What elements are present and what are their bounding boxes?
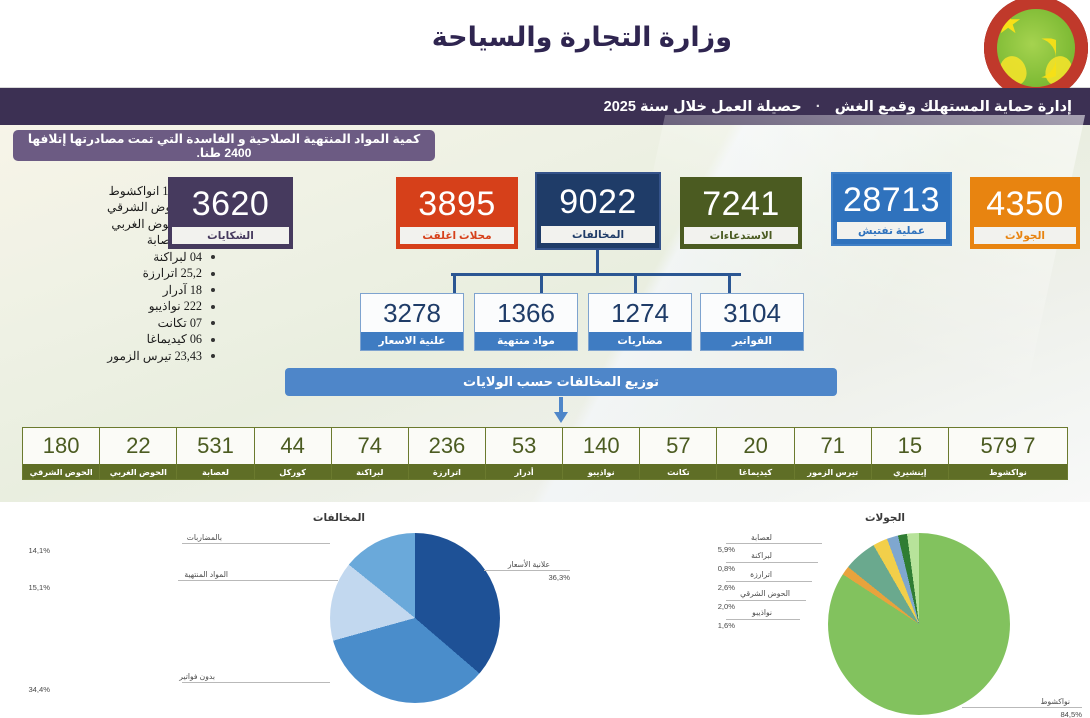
list-item: 18 آدرار (17, 282, 215, 299)
pie-slice-label-nouakchott: نواكشوط (1041, 697, 1070, 706)
pie-slice-pct-brakna: 0,8% (718, 564, 735, 573)
breakdown-value: 1274 (589, 294, 691, 332)
bullet-icon (211, 338, 215, 342)
table-cell-6[interactable]: 53أدرار (485, 428, 562, 479)
pie-slice-label-nouadhibou: نواذيبو (752, 608, 772, 617)
table-cell-label: تيرس الزمور (795, 464, 871, 479)
table-cell-label: كيديماغا (717, 464, 793, 479)
pie-slice-label-brakna: لبراكنة (751, 551, 772, 560)
stat-label: الاستدعاءات (684, 227, 798, 244)
table-cell-label: تكانت (640, 464, 716, 479)
down-arrow-icon (554, 397, 568, 425)
table-cell-value: 236 (409, 428, 485, 464)
pie-slice-label-hodh-charghi: الحوض الشرقي (740, 589, 790, 598)
list-item-label: 23,43 تيرس الزمور (107, 349, 202, 364)
seized-goods-note: كمية المواد المنتهية الصلاحية و الفاسدة … (13, 130, 435, 161)
table-cell-label: أدرار (486, 464, 562, 479)
pie-slice-label-trarza: اترارزة (750, 570, 772, 579)
list-item-label: 25,2 اترارزة (143, 266, 202, 281)
title-banner: إدارة حماية المستهلك وقمع الغش · حصيلة ا… (0, 88, 1090, 125)
stat-card-closed-shops[interactable]: 3895 محلات اغلقت (396, 177, 518, 249)
table-cell-label: نواكشوط (949, 464, 1067, 479)
stat-value: 4350 (974, 181, 1076, 227)
list-item: 23,43 تيرس الزمور (17, 348, 215, 365)
bullet-icon (211, 288, 215, 292)
list-item-label: 06 كيديماغا (147, 332, 202, 347)
table-cell-value: 57 (640, 428, 716, 464)
distribution-bar[interactable]: توزيع المخالفات حسب الولايات (285, 368, 837, 396)
bullet-icon (211, 272, 215, 276)
stat-label: عملية تفتيش (837, 222, 946, 239)
table-cell-12[interactable]: 180الحوض الشرقي (23, 428, 99, 479)
table-cell-value: 7 579 (949, 428, 1067, 464)
breakdown-label: علنية الاسعار (361, 332, 463, 350)
stat-value: 9022 (541, 178, 655, 226)
table-cell-value: 22 (100, 428, 176, 464)
pie-slice-pct-price-display: 36,3% (548, 573, 570, 582)
pie-chart-violations (330, 533, 500, 703)
pie-title-violations: المخالفات (313, 512, 365, 524)
pie-slice-pct-nouadhibou: 1,6% (718, 621, 735, 630)
pie-slice-pct-speculation: 14,1% (28, 546, 50, 555)
bullet-icon (211, 354, 215, 358)
bullet-icon (211, 255, 215, 259)
table-cell-11[interactable]: 22الحوض الغربي (99, 428, 176, 479)
stat-card-tours[interactable]: 4350 الجولات (970, 177, 1080, 249)
table-cell-value: 15 (872, 428, 948, 464)
table-cell-value: 180 (23, 428, 99, 464)
stat-label: المخالفات (541, 226, 655, 243)
pie-slice-label-expired: المواد المنتهية (184, 570, 228, 579)
stat-value: 28713 (837, 178, 946, 222)
table-cell-value: 44 (255, 428, 331, 464)
list-item-label: 18 آدرار (163, 283, 202, 298)
mauritania-national-emblem-icon (984, 0, 1088, 100)
table-cell-label: إينشيري (872, 464, 948, 479)
list-item: 07 تكانت (17, 315, 215, 332)
list-item-label: 07 تكانت (158, 316, 202, 331)
table-cell-label: نواذيبو (563, 464, 639, 479)
pie-slice-label-speculation: بالمضاربات (187, 533, 222, 542)
table-cell-label: لعصابة (177, 464, 253, 479)
table-cell-9[interactable]: 44كوركل (254, 428, 331, 479)
list-item: 06 كيديماغا (17, 332, 215, 349)
list-item: 25,2 اترارزة (17, 266, 215, 283)
list-item-label: 222 نواذيبو (149, 299, 202, 314)
table-cell-value: 20 (717, 428, 793, 464)
breakdown-value: 3278 (361, 294, 463, 332)
table-cell-8[interactable]: 74لبراكنة (331, 428, 408, 479)
table-cell-3[interactable]: 20كيديماغا (716, 428, 793, 479)
bullet-icon (211, 321, 215, 325)
pie-slice-label-no-invoice: بدون فواتير (179, 672, 215, 681)
table-cell-value: 71 (795, 428, 871, 464)
table-cell-label: اترارزة (409, 464, 485, 479)
stat-card-complaints[interactable]: 3620 الشكايات (168, 177, 293, 249)
pie-slice-pct-hodh-charghi: 2,0% (718, 602, 735, 611)
table-cell-value: 53 (486, 428, 562, 464)
pie-slice-pct-nouakchott: 84,5% (1060, 710, 1082, 718)
table-cell-label: الحوض الشرقي (23, 464, 99, 479)
breakdown-value: 3104 (701, 294, 803, 332)
table-cell-4[interactable]: 57تكانت (639, 428, 716, 479)
dashboard-page: وزارة التجارة والسياحة إدارة حماية المست… (0, 0, 1090, 718)
table-cell-7[interactable]: 236اترارزة (408, 428, 485, 479)
table-cell-2[interactable]: 71تيرس الزمور (794, 428, 871, 479)
pie-chart-tours (828, 533, 1010, 715)
breakdown-label: مضاربات (589, 332, 691, 350)
table-cell-5[interactable]: 140نواذيبو (562, 428, 639, 479)
table-cell-0[interactable]: 7 579نواكشوط (948, 428, 1067, 479)
table-cell-value: 74 (332, 428, 408, 464)
banner-period: حصيلة العمل خلال سنة 2025 (604, 99, 802, 115)
breakdown-value: 1366 (475, 294, 577, 332)
breakdown-label: مواد منتهية (475, 332, 577, 350)
pie-slice-pct-lassaba: 5,9% (718, 545, 735, 554)
breakdown-card-price-display[interactable]: 3278 علنية الاسعار (360, 293, 464, 351)
banner-separator: · (816, 98, 821, 115)
breakdown-label: الفواتير (701, 332, 803, 350)
table-cell-label: كوركل (255, 464, 331, 479)
violations-by-wilaya-table: 7 579نواكشوط15إينشيري71تيرس الزمور20كيدي… (22, 427, 1068, 480)
stat-value: 3620 (172, 181, 289, 227)
pie-slice-label-lassaba: لعصابة (751, 533, 772, 542)
bullet-icon (211, 305, 215, 309)
ministry-title: وزارة التجارة والسياحة (432, 22, 732, 53)
stat-label: محلات اغلقت (400, 227, 514, 244)
breakdown-card-speculation[interactable]: 1274 مضاربات (588, 293, 692, 351)
banner-department: إدارة حماية المستهلك وقمع الغش (835, 99, 1072, 115)
page-header: وزارة التجارة والسياحة (0, 0, 1090, 88)
stat-value: 3895 (400, 181, 514, 227)
stat-label: الجولات (974, 227, 1076, 244)
list-item: 222 نواذيبو (17, 299, 215, 316)
stat-card-violations[interactable]: 9022 المخالفات (535, 172, 661, 250)
pie-slice-pct-trarza: 2,6% (718, 583, 735, 592)
stat-card-summons[interactable]: 7241 الاستدعاءات (680, 177, 802, 249)
violations-tree-connector (451, 250, 741, 296)
list-item-label: 04 لبراكنة (153, 250, 202, 265)
table-cell-value: 531 (177, 428, 253, 464)
table-cell-value: 140 (563, 428, 639, 464)
pie-slice-pct-expired: 15,1% (28, 583, 50, 592)
stat-label: الشكايات (172, 227, 289, 244)
stat-value: 7241 (684, 181, 798, 227)
list-item: 04 لبراكنة (17, 249, 215, 266)
pie-title-tours: الجولات (865, 512, 905, 524)
table-cell-label: الحوض الغربي (100, 464, 176, 479)
breakdown-card-expired-goods[interactable]: 1366 مواد منتهية (474, 293, 578, 351)
pie-slice-pct-no-invoice: 34,4% (28, 685, 50, 694)
pie-slice-label-price-display: علانية الأسعار (508, 560, 550, 569)
table-cell-label: لبراكنة (332, 464, 408, 479)
table-cell-1[interactable]: 15إينشيري (871, 428, 948, 479)
table-cell-10[interactable]: 531لعصابة (176, 428, 253, 479)
stat-card-inspections[interactable]: 28713 عملية تفتيش (831, 172, 952, 246)
breakdown-card-invoices[interactable]: 3104 الفواتير (700, 293, 804, 351)
